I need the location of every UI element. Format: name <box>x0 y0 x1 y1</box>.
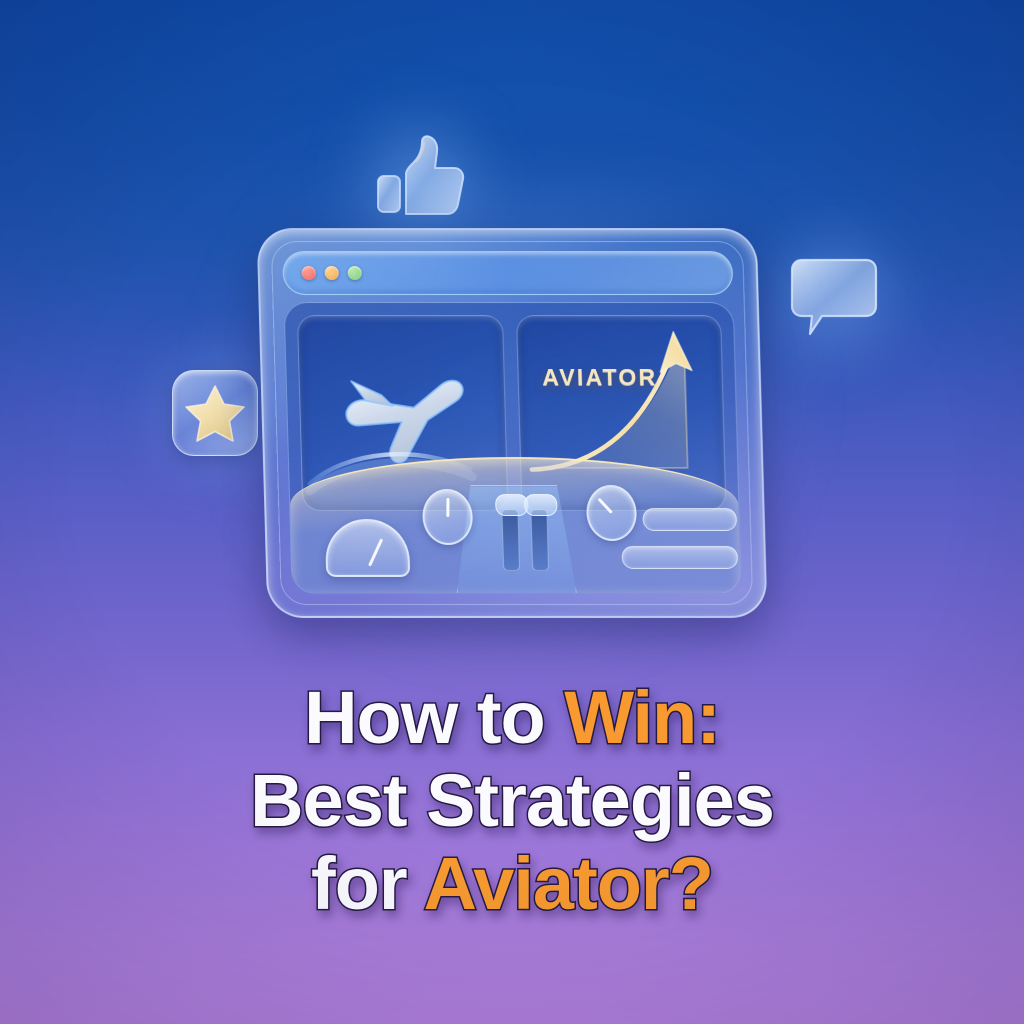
cockpit-dashboard <box>289 457 741 593</box>
window-titlebar[interactable] <box>282 251 733 295</box>
speedometer-gauge[interactable] <box>325 519 411 577</box>
headline-line1-accent: Win: <box>564 676 720 759</box>
heading-dial[interactable] <box>586 485 638 541</box>
poster-canvas: AVIATOR How to Win: B <box>0 0 1024 1024</box>
indicator-bar-bottom[interactable] <box>621 546 738 569</box>
throttle-lever-right[interactable] <box>530 509 549 571</box>
headline-line3-accent: Aviator? <box>424 842 713 925</box>
maximize-dot[interactable] <box>348 266 362 280</box>
headline-line-3: for Aviator? <box>0 842 1024 925</box>
throttle-lever-left[interactable] <box>501 509 520 571</box>
headline-line1-part1: How to <box>304 676 564 759</box>
browser-window: AVIATOR <box>256 228 767 618</box>
indicator-bar-top[interactable] <box>642 508 737 531</box>
headline: How to Win: Best Strategies for Aviator? <box>0 676 1024 925</box>
close-dot[interactable] <box>302 266 316 280</box>
headline-line3-part1: for <box>311 842 423 925</box>
window-content: AVIATOR <box>284 302 742 594</box>
minimize-dot[interactable] <box>325 266 339 280</box>
headline-line-1: How to Win: <box>0 676 1024 759</box>
aviator-label: AVIATOR <box>542 364 658 391</box>
headline-line-2: Best Strategies <box>0 759 1024 842</box>
window-inner: AVIATOR <box>271 241 753 605</box>
altimeter-dial[interactable] <box>422 489 474 545</box>
